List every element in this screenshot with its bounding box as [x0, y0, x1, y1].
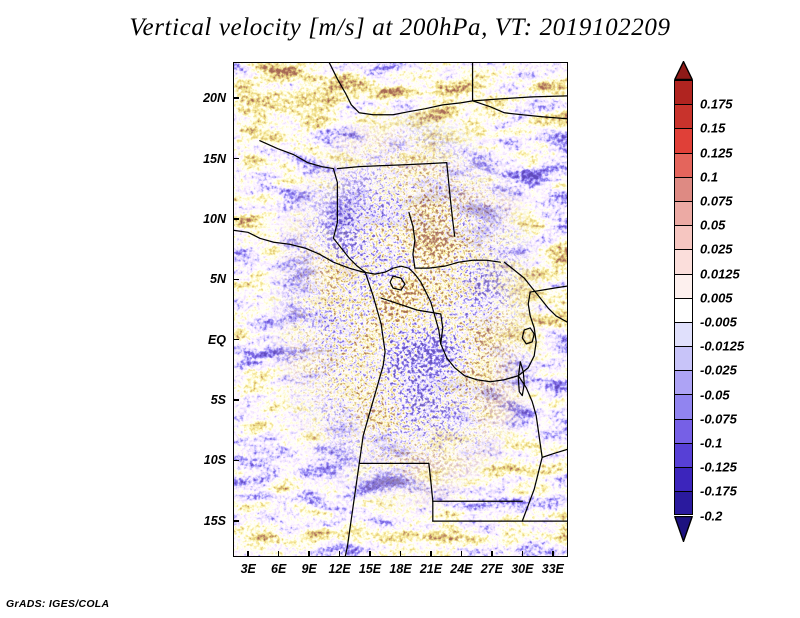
- colorbar-segment: [674, 104, 693, 128]
- colorbar-top-arrow: [674, 61, 693, 80]
- colorbar-segment: [674, 249, 693, 273]
- x-tick-label: 18E: [389, 562, 411, 576]
- map-plot-area: [233, 62, 568, 557]
- grads-attribution: GrADS: IGES/COLA: [6, 598, 109, 610]
- y-tick: [233, 158, 239, 160]
- colorbar-segments: [674, 80, 693, 515]
- colorbar-tick-label: 0.05: [700, 218, 725, 233]
- colorbar-tick-label: -0.025: [700, 363, 737, 378]
- colorbar-segment: [674, 274, 693, 298]
- colorbar-segment: [674, 201, 693, 225]
- colorbar-segment: [674, 394, 693, 418]
- colorbar-segment: [674, 80, 693, 104]
- colorbar-tick-label: -0.075: [700, 411, 737, 426]
- x-tick-label: 30E: [511, 562, 533, 576]
- x-tick: [430, 551, 432, 557]
- y-tick-label: 5S: [180, 393, 226, 407]
- y-tick-label: 20N: [180, 91, 226, 105]
- x-tick: [400, 551, 402, 557]
- colorbar-segment: [674, 322, 693, 346]
- colorbar-tick-label: 0.175: [700, 97, 733, 112]
- colorbar-tick-label: 0.075: [700, 194, 733, 209]
- colorbar-segment: [674, 177, 693, 201]
- x-tick: [522, 551, 524, 557]
- x-tick: [552, 551, 554, 557]
- x-tick-label: 3E: [241, 562, 256, 576]
- x-tick-label: 21E: [420, 562, 442, 576]
- y-tick: [233, 218, 239, 220]
- colorbar-segment: [674, 225, 693, 249]
- y-tick-label: 15N: [180, 152, 226, 166]
- y-tick-label: 10S: [180, 453, 226, 467]
- colorbar-segment: [674, 370, 693, 394]
- colorbar-segment: [674, 298, 693, 322]
- x-tick-label: 9E: [301, 562, 316, 576]
- x-tick: [491, 551, 493, 557]
- colorbar-tick-label: 0.1: [700, 169, 718, 184]
- y-tick-label: 5N: [180, 272, 226, 286]
- colorbar-tick-label: 0.125: [700, 145, 733, 160]
- x-tick-label: 15E: [359, 562, 381, 576]
- x-tick-label: 33E: [542, 562, 564, 576]
- x-tick: [339, 551, 341, 557]
- x-tick: [278, 551, 280, 557]
- colorbar-tick-label: -0.125: [700, 460, 737, 475]
- colorbar-bottom-arrow: [674, 516, 693, 542]
- x-tick: [369, 551, 371, 557]
- colorbar-tick-label: -0.1: [700, 436, 722, 451]
- y-tick: [233, 399, 239, 401]
- x-tick: [308, 551, 310, 557]
- y-tick: [233, 279, 239, 281]
- colorbar-tick-label: 0.0125: [700, 266, 740, 281]
- colorbar-segment: [674, 443, 693, 467]
- x-tick-label: 24E: [450, 562, 472, 576]
- y-tick-label: 15S: [180, 514, 226, 528]
- x-tick-label: 27E: [481, 562, 503, 576]
- colorbar-segment: [674, 346, 693, 370]
- colorbar-segment: [674, 128, 693, 152]
- x-tick-label: 6E: [271, 562, 286, 576]
- x-tick-label: 12E: [328, 562, 350, 576]
- y-tick-label: 10N: [180, 212, 226, 226]
- y-tick: [233, 97, 239, 99]
- colorbar-tick-label: -0.05: [700, 387, 730, 402]
- colorbar-segment: [674, 419, 693, 443]
- x-tick: [247, 551, 249, 557]
- colorbar-segment: [674, 467, 693, 491]
- page-title: Vertical velocity [m/s] at 200hPa, VT: 2…: [0, 14, 800, 42]
- colorbar-segment: [674, 491, 693, 515]
- y-tick: [233, 339, 239, 341]
- colorbar-tick-label: 0.005: [700, 290, 733, 305]
- y-tick: [233, 520, 239, 522]
- y-tick: [233, 460, 239, 462]
- x-tick: [461, 551, 463, 557]
- vertical-velocity-field: [234, 63, 567, 556]
- colorbar-tick-label: 0.025: [700, 242, 733, 257]
- colorbar-tick-label: -0.175: [700, 484, 737, 499]
- colorbar-segment: [674, 153, 693, 177]
- colorbar-tick-label: -0.005: [700, 315, 737, 330]
- colorbar-tick-label: 0.15: [700, 121, 725, 136]
- colorbar-tick-label: -0.2: [700, 508, 722, 523]
- colorbar-tick-label: -0.0125: [700, 339, 744, 354]
- y-tick-label: EQ: [180, 333, 226, 347]
